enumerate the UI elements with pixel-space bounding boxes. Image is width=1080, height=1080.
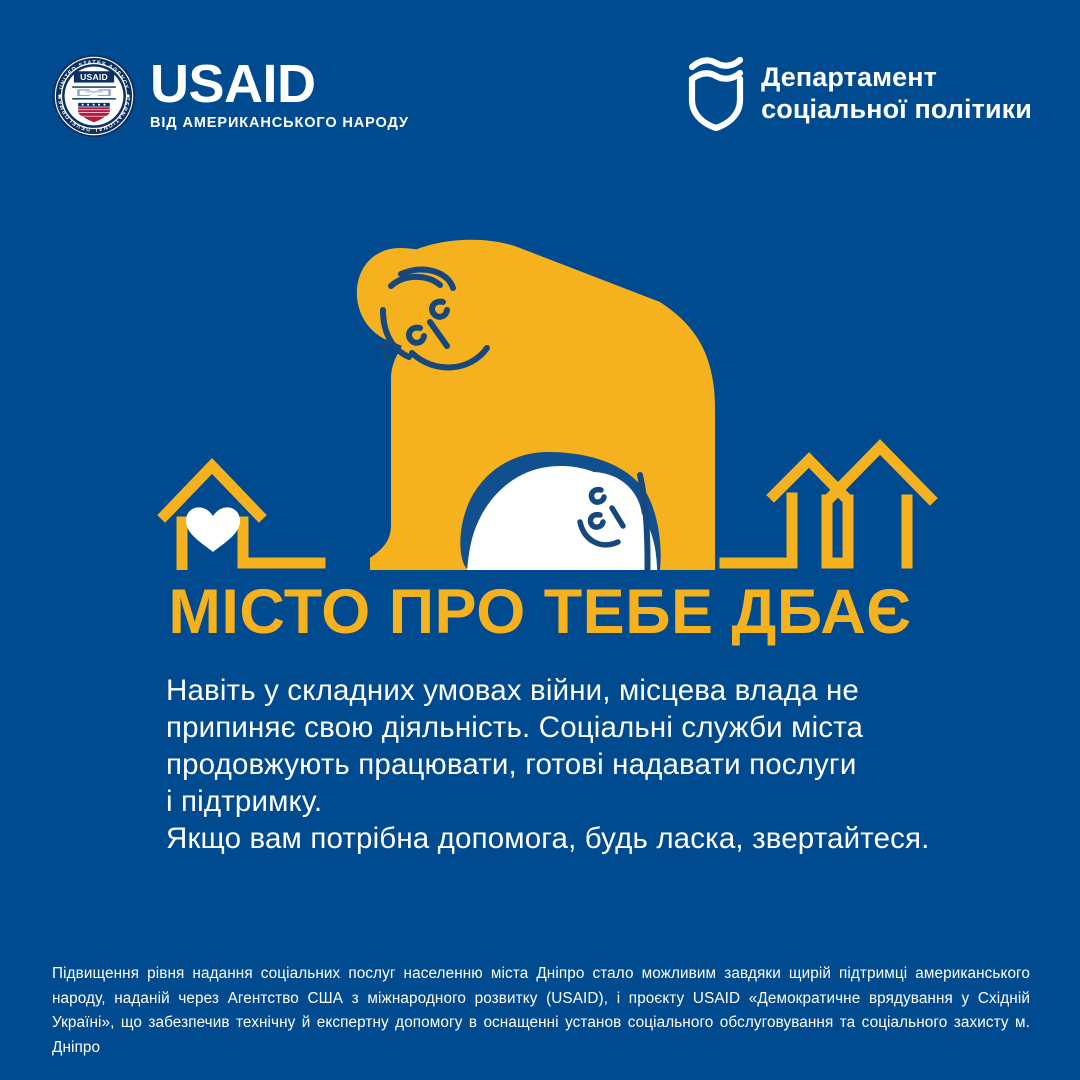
body-line-3: продовжують працювати, готові надавати п… xyxy=(166,746,966,783)
usaid-wordmark-block: USAID ВІД АМЕРИКАНСЬКОГО НАРОДУ xyxy=(150,56,409,131)
two-houses-icon xyxy=(725,447,930,563)
usaid-wordmark: USAID xyxy=(150,56,409,112)
department-name: Департамент соціальної політики xyxy=(761,61,1032,125)
header-bar: UNITED STATES AGENCY INTERNATIONAL DEVEL… xyxy=(0,0,1080,165)
body-line-1: Навіть у складних умовах війни, місцева … xyxy=(166,672,966,709)
embrace-figures xyxy=(357,240,716,570)
department-name-line2: соціальної політики xyxy=(761,93,1032,125)
body-line-4: і підтримку. xyxy=(166,783,966,820)
shield-wave-icon xyxy=(687,55,745,131)
usaid-logo-lockup: UNITED STATES AGENCY INTERNATIONAL DEVEL… xyxy=(52,54,409,138)
footer-text: Підвищення рівня надання соціальних посл… xyxy=(52,962,1030,1060)
body-line-5: Якщо вам потрібна допомога, будь ласка, … xyxy=(166,820,966,857)
department-logo-lockup: Департамент соціальної політики xyxy=(687,55,1032,131)
footer-disclaimer: Підвищення рівня надання соціальних посл… xyxy=(52,962,1030,1060)
page-title: МІСТО ПРО ТЕБЕ ДБАЄ xyxy=(0,577,1080,647)
department-name-line1: Департамент xyxy=(761,61,1032,93)
svg-text:USAID: USAID xyxy=(80,72,108,82)
poster-canvas: UNITED STATES AGENCY INTERNATIONAL DEVEL… xyxy=(0,0,1080,1080)
usaid-tagline: ВІД АМЕРИКАНСЬКОГО НАРОДУ xyxy=(150,115,409,131)
adult-embracing-child-illustration xyxy=(0,170,1080,570)
heart-icon xyxy=(186,507,240,552)
body-line-2: припиняє свою діяльність. Соціальні служ… xyxy=(166,709,966,746)
body-copy: Навіть у складних умовах війни, місцева … xyxy=(166,672,966,857)
usaid-seal-icon: UNITED STATES AGENCY INTERNATIONAL DEVEL… xyxy=(52,54,136,138)
